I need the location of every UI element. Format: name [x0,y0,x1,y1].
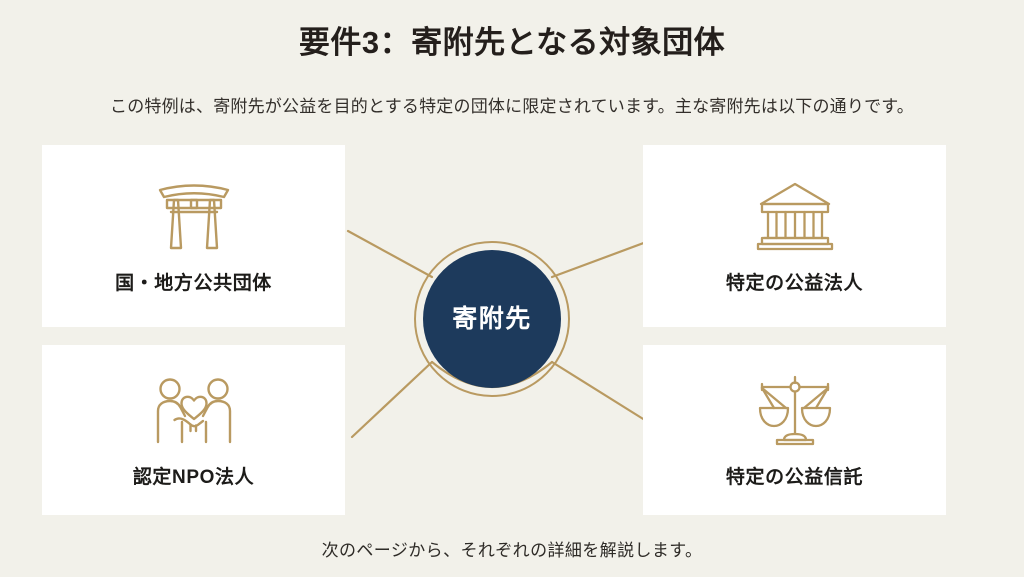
card-national-local-government[interactable]: 国・地方公共団体 [42,145,345,327]
people-heart-icon [152,372,236,448]
card-public-interest-trust[interactable]: 特定の公益信託 [643,345,946,515]
balance-scales-icon [755,372,835,448]
page-footer-note: 次のページから、それぞれの詳細を解説します。 [0,536,1024,561]
card-label: 特定の公益法人 [726,268,863,295]
card-public-interest-corporation[interactable]: 特定の公益法人 [643,145,946,327]
page-title: 要件3：寄附先となる対象団体 [0,24,1024,61]
card-label: 認定NPO法人 [133,462,254,489]
slide-canvas: 要件3：寄附先となる対象団体 この特例は、寄附先が公益を目的とする特定の団体に限… [0,0,1024,577]
classical-building-icon [756,178,834,254]
center-hub: 寄附先 [414,241,570,397]
torii-gate-icon [154,178,234,254]
card-label: 特定の公益信託 [726,462,863,489]
card-certified-npo[interactable]: 認定NPO法人 [42,345,345,515]
card-label: 国・地方公共団体 [115,268,272,295]
hub-label: 寄附先 [452,307,532,332]
hub-circle: 寄附先 [423,250,561,388]
page-subtitle: この特例は、寄附先が公益を目的とする特定の団体に限定されています。主な寄附先は以… [0,92,1024,117]
